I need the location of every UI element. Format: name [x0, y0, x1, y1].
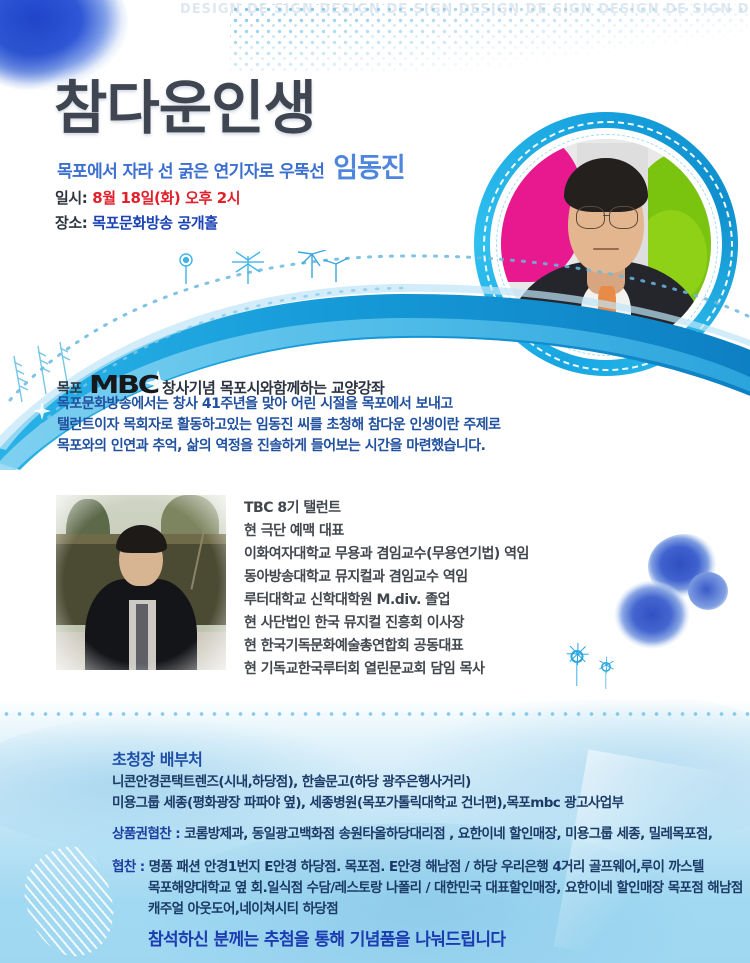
- page-title: 참다운인생: [54, 78, 316, 139]
- gift-sponsor-row: 상품권협찬 : 코롬방제과, 동일광고백화점 송원타올하당대리점 , 요한이네 …: [112, 822, 712, 842]
- list-item: 동아방송대학교 뮤지컬과 겸임교수 역임: [244, 566, 664, 589]
- halftone-dot-pattern: [230, 4, 750, 74]
- biography-list: TBC 8기 탤런트 현 극단 예맥 대표 이화여자대학교 무용과 겸임교수(무…: [244, 497, 664, 681]
- subtitle-text: 목포에서 자라 선 굵은 연기자로 우뚝선: [57, 157, 324, 182]
- gift-sponsor-label: 상품권협찬 :: [112, 826, 180, 842]
- dotted-divider: [0, 710, 750, 718]
- sponsor-row: 협찬 : 명품 패션 안경1번지 E안경 하당점. 목포점. E안경 해남점 /…: [112, 855, 704, 875]
- watercolor-ink-blot-small-icon: [688, 572, 728, 610]
- distribution-line: 미용그룹 세종(평화광장 파파야 옆), 세종병원(목포가톨릭대학교 건너편),…: [112, 791, 623, 811]
- list-item: 현 한국기독문화예술총연합회 공동대표: [244, 635, 664, 658]
- guest-secondary-photo: [56, 495, 226, 670]
- event-date-value: 8월 18일(화) 오후 2시: [92, 189, 240, 207]
- watercolor-ink-blot-secondary-icon: [614, 580, 690, 652]
- list-item: 현 사단법인 한국 뮤지컬 진흥회 이사장: [244, 612, 664, 635]
- list-item: TBC 8기 탤런트: [244, 497, 664, 520]
- program-description: 목포문화방송에서는 창사 41주년을 맞아 어린 시절을 목포에서 보내고 탤런…: [57, 394, 697, 457]
- list-item: 루터대학교 신학대학원 M.div. 졸업: [244, 589, 664, 612]
- sponsor-label: 협찬 :: [112, 859, 145, 875]
- program-description-line: 목포와의 인연과 추억, 삶의 역정을 진솔하게 들어보는 시간을 마련했습니다…: [57, 436, 697, 457]
- list-item: 현 극단 예맥 대표: [244, 520, 664, 543]
- dandelion-star-icon: [566, 650, 588, 690]
- dandelion-star-small-icon: [600, 662, 612, 686]
- list-item: 이화여자대학교 무용과 겸임교수(무용연기법) 역임: [244, 543, 664, 566]
- program-description-line: 탤런트이자 목회자로 활동하고있는 임동진 씨를 초청해 참다운 인생이란 주제…: [57, 415, 697, 436]
- closing-message: 참석하신 분께는 추첨을 통해 기념품을 나눠드립니다: [148, 925, 505, 950]
- sponsor-line: 목포해양대학교 옆 회.일식점 수담/레스토랑 나폴리 / 대한민국 대표할인매…: [148, 876, 743, 896]
- featured-guest-name: 임동진: [333, 146, 405, 185]
- subtitle-row: 목포에서 자라 선 굵은 연기자로 우뚝선 임동진: [57, 146, 405, 185]
- event-date-label: 일시:: [55, 189, 87, 207]
- gift-sponsor-text: 코롬방제과, 동일광고백화점 송원타올하당대리점 , 요한이네 할인매장, 미용…: [184, 826, 712, 842]
- program-description-line: 목포문화방송에서는 창사 41주년을 맞아 어린 시절을 목포에서 보내고: [57, 394, 697, 415]
- sponsor-line: 명품 패션 안경1번지 E안경 하당점. 목포점. E안경 해남점 / 하당 우…: [149, 859, 704, 875]
- event-venue-value: 목포문화방송 공개홀: [92, 214, 217, 232]
- event-date-row: 일시: 8월 18일(화) 오후 2시: [55, 187, 240, 208]
- sponsor-line: 캐주얼 아웃도어,네이쳐시티 하당점: [148, 897, 338, 917]
- event-venue-row: 장소: 목포문화방송 공개홀: [55, 212, 218, 233]
- hatched-ribbon-icon: [19, 842, 119, 963]
- distribution-heading: 초청장 배부처: [112, 746, 202, 770]
- event-poster: DESIGN DE SIGN DESIGN DE SIGN DESIGN DE …: [0, 0, 750, 963]
- distribution-line: 니콘안경콘택트렌즈(시내,하당점), 한솔문고(하당 광주은행사거리): [112, 770, 471, 790]
- event-venue-label: 장소:: [55, 214, 87, 232]
